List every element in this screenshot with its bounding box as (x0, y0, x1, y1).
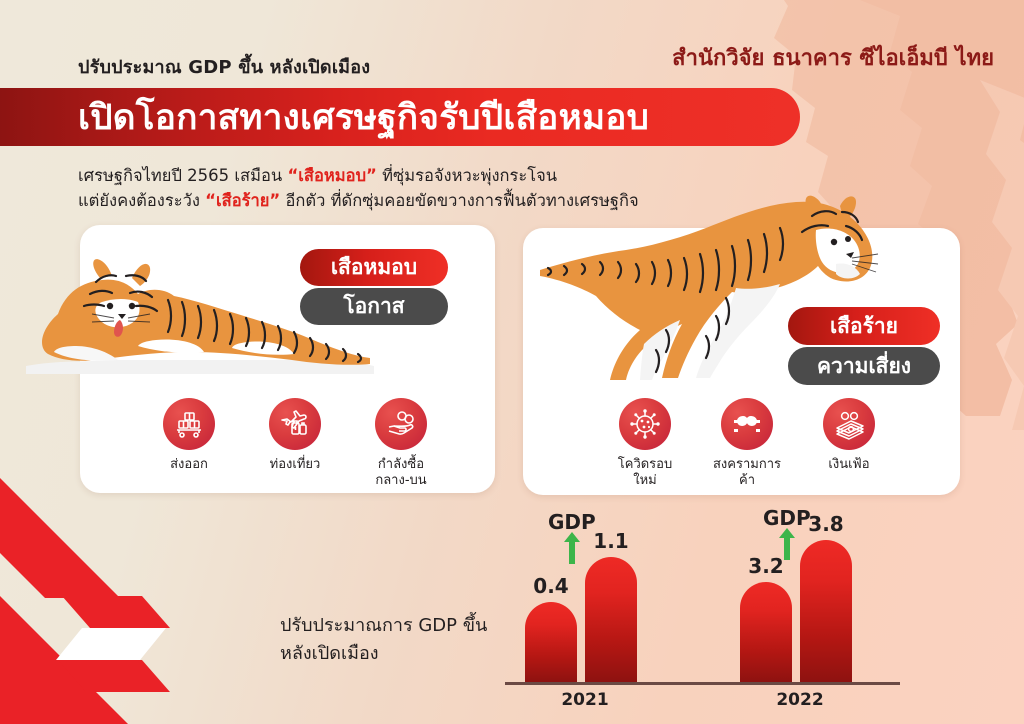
badge-tiger-crouching: เสือหมอบ (300, 249, 448, 286)
chart-caption-line-1: ปรับประมาณการ GDP ขึ้น (280, 612, 487, 640)
opportunity-item-export-label: ส่งออก (170, 457, 208, 473)
subheadline-line-1-highlight: “เสือหมอบ” (287, 166, 376, 185)
badge-opportunity: โอกาส (300, 288, 448, 325)
bar-2022-old[interactable]: 3.2 (740, 554, 792, 682)
bar-2022-new-value: 3.8 (808, 512, 843, 536)
bar-shape (585, 557, 637, 682)
bar-group-2022: 3.2 3.8 (740, 512, 852, 682)
risk-item-trade-war[interactable]: สงครามการค้า (710, 398, 784, 489)
infographic-root: ปรับประมาณ GDP ขึ้น หลังเปิดเมือง สำนักว… (0, 0, 1024, 724)
bar-2021-new[interactable]: 1.1 (585, 529, 637, 682)
subheadline-line-2: แต่ยังคงต้องระวัง “เสือร้าย” อีกตัว ที่ด… (78, 188, 639, 213)
bar-group-2021: 0.4 1.1 (525, 529, 637, 682)
opportunity-item-tourism[interactable]: ท่องเที่ยว (258, 398, 332, 473)
risk-badge-stack: เสือร้าย ความเสี่ยง (788, 307, 940, 385)
badge-tiger-fierce: เสือร้าย (788, 307, 940, 345)
page-kicker: ปรับประมาณ GDP ขึ้น หลังเปิดเมือง (78, 52, 370, 81)
opportunity-item-purchasing-power[interactable]: กำลังซื้อ กลาง-บน (364, 398, 438, 489)
axis-label-2021: 2021 (525, 690, 645, 710)
bar-shape (525, 602, 577, 682)
risk-item-trade-war-label: สงครามการค้า (710, 457, 784, 489)
bar-2021-new-value: 1.1 (593, 529, 628, 553)
trade-war-fists-icon (721, 398, 773, 450)
subheadline-line-1: เศรษฐกิจไทยปี 2565 เสมือน “เสือหมอบ” ที่… (78, 163, 639, 188)
subheadline: เศรษฐกิจไทยปี 2565 เสมือน “เสือหมอบ” ที่… (78, 163, 639, 213)
export-cart-icon (163, 398, 215, 450)
risk-item-inflation[interactable]: เงินเฟ้อ (812, 398, 886, 473)
opportunity-badge-stack: เสือหมอบ โอกาส (300, 249, 448, 325)
purchasing-power-label-line2: กลาง-บน (375, 473, 426, 488)
organization-name: สำนักวิจัย ธนาคาร ซีไอเอ็มบี ไทย (672, 40, 994, 75)
bar-2022-new[interactable]: 3.8 (800, 512, 852, 682)
bar-shape (800, 540, 852, 682)
chart-baseline-axis (505, 682, 900, 685)
risk-item-new-covid-wave-label: โควิดรอบใหม่ (608, 457, 682, 489)
subheadline-line-2-highlight: “เสือร้าย” (205, 191, 280, 210)
risk-item-inflation-label: เงินเฟ้อ (828, 457, 869, 473)
risk-item-new-covid-wave[interactable]: โควิดรอบใหม่ (608, 398, 682, 489)
purchasing-power-hand-coins-icon (375, 398, 427, 450)
opportunity-item-export[interactable]: ส่งออก (152, 398, 226, 473)
subheadline-line-1-part-b: ที่ซุ่มรอจังหวะพุ่งกระโจน (377, 166, 557, 185)
chart-caption-line-2: หลังเปิดเมือง (280, 640, 487, 668)
risk-icon-row: โควิดรอบใหม่ สงครามการค้า (608, 398, 886, 489)
virus-icon (619, 398, 671, 450)
chart-caption: ปรับประมาณการ GDP ขึ้น หลังเปิดเมือง (280, 612, 487, 668)
gdp-forecast-chart: GDP GDP 0.4 1.1 3.2 (480, 500, 910, 715)
cimb-logo-mark (0, 478, 170, 724)
inflation-banknotes-icon (823, 398, 875, 450)
subheadline-line-2-part-a: แต่ยังคงต้องระวัง (78, 191, 205, 210)
opportunity-item-purchasing-power-label: กำลังซื้อ กลาง-บน (375, 457, 426, 489)
subheadline-line-2-part-b: อีกตัว ที่ดักซุ่มคอยขัดขวางการฟื้นตัวทาง… (280, 191, 638, 210)
opportunity-icon-row: ส่งออก ท่องเที่ยว (152, 398, 438, 489)
subheadline-line-1-part-a: เศรษฐกิจไทยปี 2565 เสมือน (78, 166, 287, 185)
opportunity-item-tourism-label: ท่องเที่ยว (270, 457, 321, 473)
tourism-plane-luggage-icon (269, 398, 321, 450)
axis-label-2022: 2022 (740, 690, 860, 710)
page-title: เปิดโอกาสทางเศรษฐกิจรับปีเสือหมอบ (78, 94, 838, 142)
bar-2021-old-value: 0.4 (533, 574, 568, 598)
purchasing-power-label-line1: กำลังซื้อ (378, 457, 424, 472)
bar-2022-old-value: 3.2 (748, 554, 783, 578)
bar-shape (740, 582, 792, 682)
badge-risk: ความเสี่ยง (788, 347, 940, 385)
bar-2021-old[interactable]: 0.4 (525, 574, 577, 682)
